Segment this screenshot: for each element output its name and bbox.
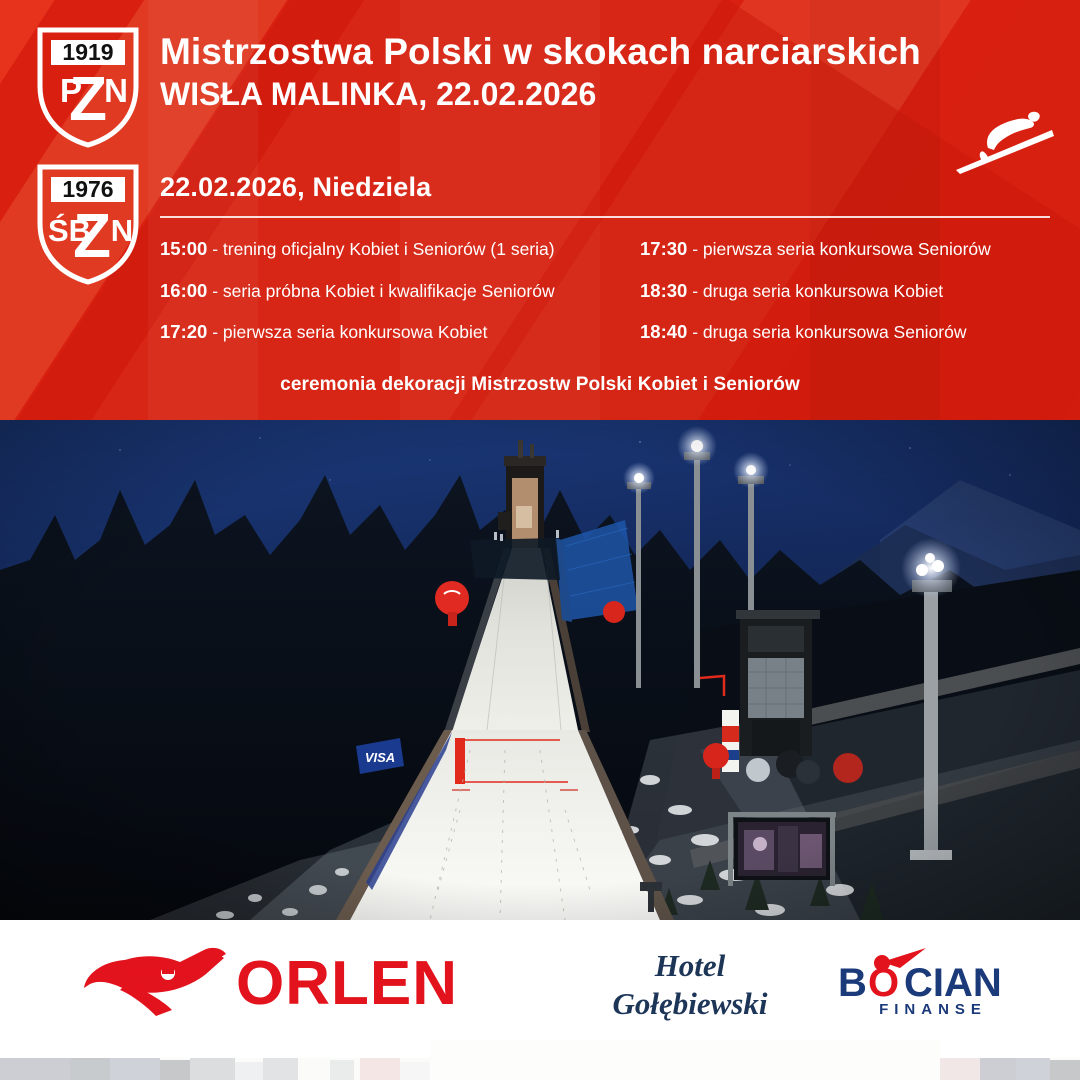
schedule-desc: druga seria konkursowa Kobiet bbox=[703, 281, 943, 301]
crest-group: 1919 P Z N 1976 ŚB Z N bbox=[34, 24, 154, 286]
bocian-wordmark-pre: B bbox=[838, 961, 867, 1005]
schedule-item: 17:30 - pierwsza seria konkursowa Senior… bbox=[640, 240, 1060, 259]
schedule-dash: - bbox=[207, 239, 223, 259]
sbzn-crest-year: 1976 bbox=[62, 176, 113, 202]
divider-rule bbox=[160, 216, 1050, 218]
wisla-malinka-ski-jump-night-photo: VISA bbox=[0, 420, 1080, 920]
schedule-column-right: 17:30 - pierwsza seria konkursowa Senior… bbox=[640, 240, 1060, 365]
schedule-desc: trening oficjalny Kobiet i Seniorów (1 s… bbox=[223, 239, 555, 259]
orlen-wordmark: ORLEN bbox=[236, 949, 458, 1018]
schedule-column-left: 15:00 - trening oficjalny Kobiet i Senio… bbox=[160, 240, 640, 365]
schedule-dash: - bbox=[687, 281, 703, 301]
schedule-desc: pierwsza seria konkursowa Seniorów bbox=[703, 239, 991, 259]
poster-root: 1919 P Z N 1976 ŚB Z N Mistrzostwa Polsk… bbox=[0, 0, 1080, 1080]
event-title: Mistrzostwa Polski w skokach narciarskic… bbox=[160, 30, 1020, 74]
sbzn-crest-letters-post: N bbox=[111, 213, 133, 248]
title-block: Mistrzostwa Polski w skokach narciarskic… bbox=[160, 30, 1020, 114]
schedule-desc: druga seria konkursowa Seniorów bbox=[703, 322, 967, 342]
bocian-subtitle: FINANSE bbox=[879, 1001, 987, 1018]
orlen-logo: ORLEN bbox=[76, 944, 496, 1019]
schedule-date: 22.02.2026, Niedziela bbox=[160, 172, 1050, 203]
schedule-dash: - bbox=[207, 322, 223, 342]
schedule-desc: pierwsza seria konkursowa Kobiet bbox=[223, 322, 488, 342]
hotel-logo-line2: Gołębiewski bbox=[613, 986, 768, 1021]
hotel-logo-line1: Hotel bbox=[654, 948, 726, 983]
schedule-dash: - bbox=[207, 281, 223, 301]
pzn-crest: 1919 P Z N bbox=[34, 24, 142, 149]
schedule-item: 18:30 - druga seria konkursowa Kobiet bbox=[640, 282, 1060, 301]
pzn-crest-year: 1919 bbox=[62, 39, 113, 65]
schedule-item: 18:40 - druga seria konkursowa Seniorów bbox=[640, 323, 1060, 342]
schedule-item: 16:00 - seria próbna Kobiet i kwalifikac… bbox=[160, 282, 640, 301]
event-venue-date: WISŁA MALINKA, 22.02.2026 bbox=[160, 75, 1020, 114]
schedule-time: 17:30 bbox=[640, 238, 687, 259]
date-row: 22.02.2026, Niedziela bbox=[160, 172, 1050, 218]
schedule-item: 17:20 - pierwsza seria konkursowa Kobiet bbox=[160, 323, 640, 342]
bocian-wordmark-post: CIAN bbox=[904, 961, 1002, 1005]
ceremony-note: ceremonia dekoracji Mistrzostw Polski Ko… bbox=[0, 374, 1080, 396]
pzn-crest-letter-big: Z bbox=[69, 65, 107, 134]
schedule-time: 17:20 bbox=[160, 321, 207, 342]
header-banner: 1919 P Z N 1976 ŚB Z N Mistrzostwa Polsk… bbox=[0, 0, 1080, 420]
schedule-item: 15:00 - trening oficjalny Kobiet i Senio… bbox=[160, 240, 640, 259]
schedule-grid: 15:00 - trening oficjalny Kobiet i Senio… bbox=[160, 240, 1060, 365]
ski-jumper-icon bbox=[948, 100, 1058, 175]
schedule-desc: seria próbna Kobiet i kwalifikacje Senio… bbox=[223, 281, 555, 301]
sbzn-crest: 1976 ŚB Z N bbox=[34, 161, 142, 286]
schedule-dash: - bbox=[687, 239, 703, 259]
schedule-time: 18:40 bbox=[640, 321, 687, 342]
bocian-finanse-logo: B O CIAN FINANSE bbox=[830, 946, 1035, 1018]
schedule-time: 15:00 bbox=[160, 238, 207, 259]
footer-photo-strip bbox=[0, 1040, 1080, 1080]
pzn-crest-letters-post: N bbox=[104, 72, 128, 109]
bocian-wordmark-o: O bbox=[868, 961, 899, 1005]
sbzn-crest-letter-big: Z bbox=[73, 202, 111, 271]
hotel-golebiewski-logo: Hotel Gołębiewski bbox=[585, 942, 795, 1022]
schedule-time: 16:00 bbox=[160, 280, 207, 301]
schedule-time: 18:30 bbox=[640, 280, 687, 301]
sponsor-bar: ORLEN Hotel Gołębiewski B O CIAN FINANSE bbox=[0, 920, 1080, 1040]
schedule-dash: - bbox=[687, 322, 703, 342]
